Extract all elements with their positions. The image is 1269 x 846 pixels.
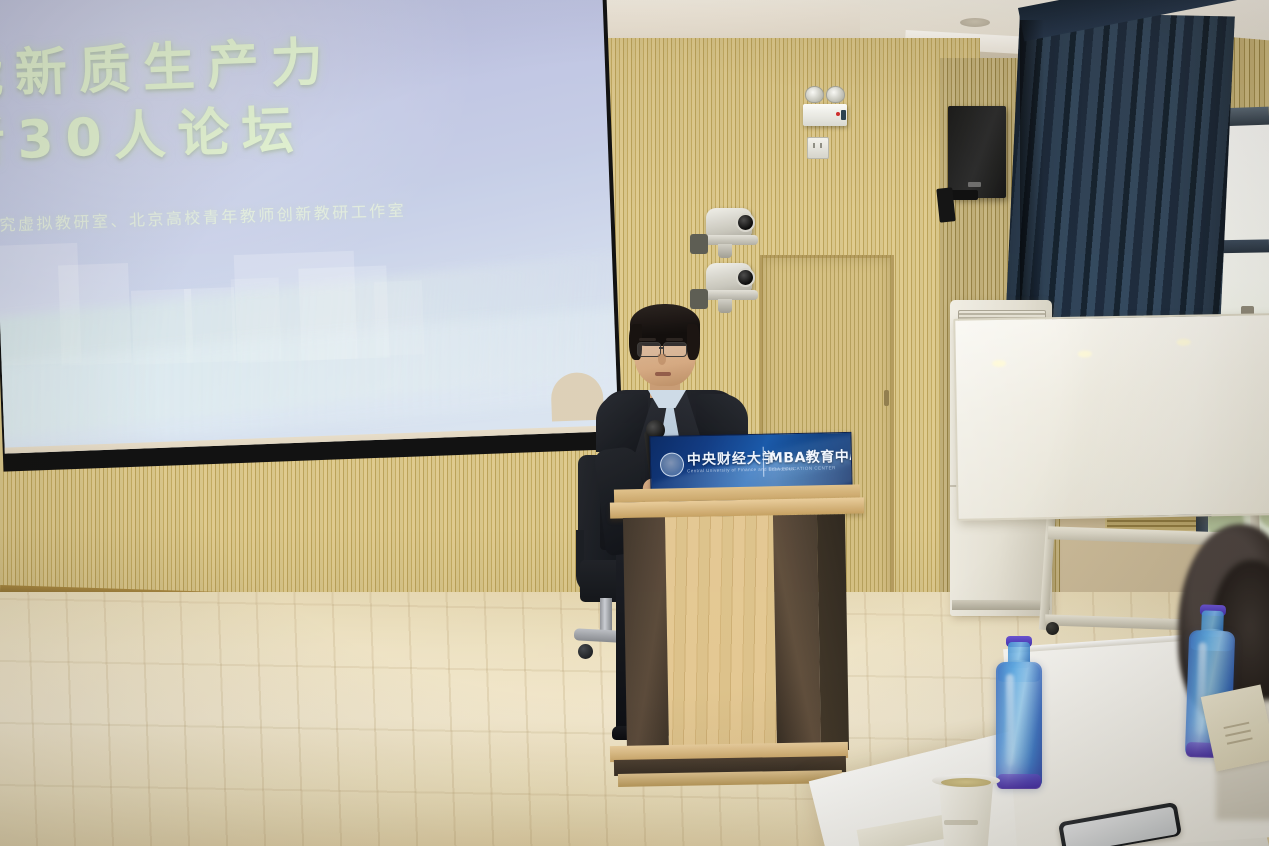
ceiling-speaker-icon xyxy=(960,18,990,27)
university-logo-icon xyxy=(660,452,684,476)
podium-side-panel xyxy=(817,514,849,750)
door-handle-icon[interactable] xyxy=(884,390,889,406)
speaker-bracket xyxy=(936,187,955,222)
emergency-lamp-head-icon xyxy=(805,86,824,103)
emergency-lamp-head-icon xyxy=(826,86,845,103)
status-led-icon xyxy=(836,112,840,116)
podium-column-left xyxy=(623,517,669,754)
speaker-mouth xyxy=(655,372,671,376)
screen-surface: 能新质生产力 者30人论坛 育研究虚拟教研室、北京高校青年教师创新教研工作室 xyxy=(0,0,618,454)
speaker-eyebrow xyxy=(666,338,683,341)
bottle-highlight xyxy=(1006,674,1014,766)
speaker-eyebrow xyxy=(639,338,656,341)
slide-title: 能新质生产力 者30人论坛 xyxy=(0,23,514,177)
bottle-base xyxy=(997,774,1041,789)
whiteboard-caster xyxy=(1046,622,1059,635)
camera-lens-icon xyxy=(736,213,755,232)
podium-body xyxy=(623,514,849,754)
speaker-badge-icon xyxy=(968,182,981,187)
paper-cup-print xyxy=(944,820,978,825)
chair-caster xyxy=(578,644,593,659)
projection-screen: 能新质生产力 者30人论坛 育研究虚拟教研室、北京高校青年教师创新教研工作室 xyxy=(0,0,623,472)
paper-cup[interactable] xyxy=(934,778,998,846)
bottle-body xyxy=(996,662,1042,788)
air-conditioner-base xyxy=(952,600,1050,610)
speaker-nose xyxy=(658,354,666,365)
speaker-hair-side xyxy=(687,324,700,360)
camera-lens-icon xyxy=(736,268,755,287)
whiteboard-glare xyxy=(955,315,1269,518)
conference-room-photo: 能新质生产力 者30人论坛 育研究虚拟教研室、北京高校青年教师创新教研工作室 xyxy=(0,0,1269,846)
podium-column-right xyxy=(773,515,821,752)
camera-neck xyxy=(718,244,732,258)
podium-department-cn: MBA教育中心 xyxy=(769,446,853,468)
emergency-light-switch[interactable] xyxy=(841,110,846,120)
eyeglasses-bridge xyxy=(659,347,664,349)
whiteboard[interactable] xyxy=(953,313,1269,521)
camera-wall-mount xyxy=(690,234,708,254)
wall-outlet-icon xyxy=(807,137,829,159)
paper-cup-contents xyxy=(941,778,991,787)
eyeglasses-icon xyxy=(663,342,687,357)
podium-front-panel xyxy=(665,515,777,753)
